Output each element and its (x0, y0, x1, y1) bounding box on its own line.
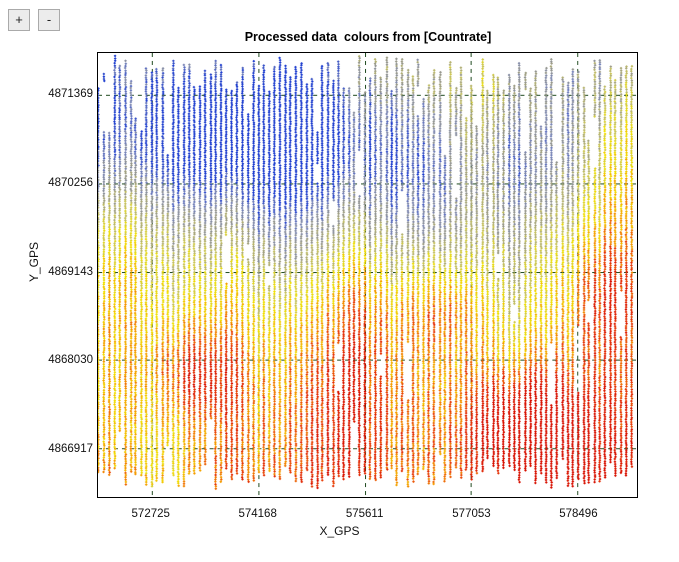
x-tick-label: 574168 (213, 508, 303, 520)
y-axis-label: Y_GPS (27, 222, 41, 302)
y-tick-label: 4870256 (23, 177, 93, 189)
x-tick-label: 577053 (426, 508, 516, 520)
scatter-plot-figure: Processed data colours from [Countrate] … (0, 0, 679, 562)
plot-canvas[interactable] (98, 53, 637, 497)
x-tick-label: 572725 (106, 508, 196, 520)
x-axis-label: X_GPS (0, 524, 679, 538)
y-tick-label: 4866917 (23, 443, 93, 455)
x-tick-label: 578496 (533, 508, 623, 520)
plot-area[interactable] (97, 52, 638, 498)
application-window: + - Processed data colours from [Countra… (0, 0, 679, 562)
chart-title: Processed data colours from [Countrate] (97, 30, 639, 44)
y-tick-label: 4868030 (23, 354, 93, 366)
y-tick-label: 4871369 (23, 88, 93, 100)
x-tick-label: 575611 (320, 508, 410, 520)
